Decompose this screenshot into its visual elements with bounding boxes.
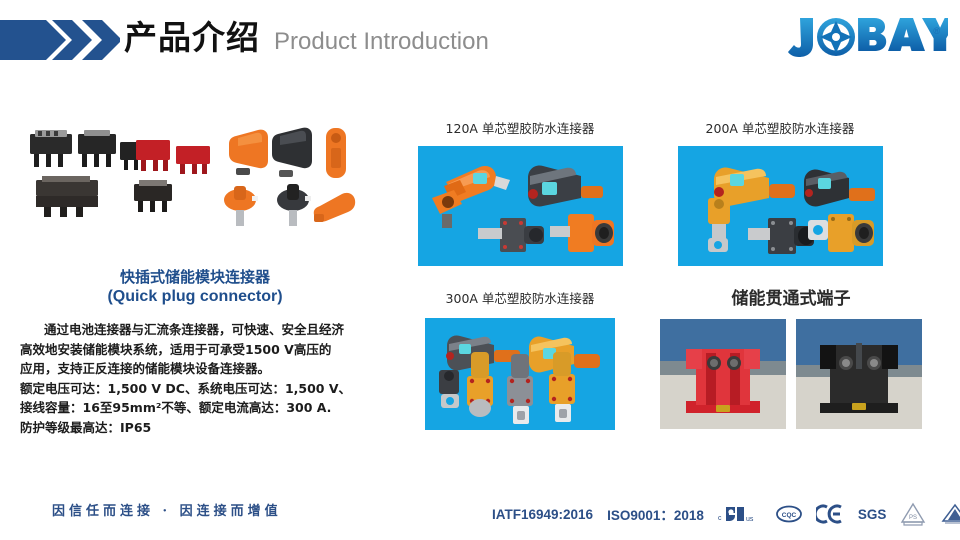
left-heading-cn: 快插式储能模块连接器 xyxy=(0,268,390,287)
svg-text:us: us xyxy=(746,516,754,523)
jobay-logo: ® xyxy=(788,12,948,62)
svg-text:PS: PS xyxy=(909,515,917,521)
cert-iso: ISO9001：2018 xyxy=(607,504,704,524)
product-panel-200a: 200A 单芯塑胶防水连接器 xyxy=(664,118,896,266)
panel-caption-120a: 120A 单芯塑胶防水连接器 xyxy=(404,118,636,137)
cert-iatf: IATF16949:2016 xyxy=(492,507,593,522)
page-title: 产品介绍 xyxy=(124,18,260,58)
panel-caption-200a: 200A 单芯塑胶防水连接器 xyxy=(664,118,896,137)
page-subtitle: Product Introduction xyxy=(274,25,489,59)
battery-connector-product-photo xyxy=(8,110,388,245)
chevron-arrow-banner-icon xyxy=(0,20,120,60)
through-type-terminal-photo xyxy=(660,319,922,429)
left-heading-en: (Quick plug connector) xyxy=(0,287,390,307)
svg-text:c: c xyxy=(718,515,722,522)
ul-listed-icon: c us xyxy=(718,504,762,524)
description-line: 应用，支持正反连接的储能模块设备连接器。 xyxy=(20,359,370,379)
page-footer: 因信任而连接 · 因连接而增值 IATF16949:2016 ISO9001：2… xyxy=(0,492,960,540)
page-header: 产品介绍 Product Introduction ® xyxy=(0,0,960,78)
panel-caption-terminal: 储能贯通式端子 xyxy=(660,284,922,309)
connector-photo-120a xyxy=(418,146,623,266)
connector-photo-300a xyxy=(425,318,615,430)
pse-icon: PS xyxy=(900,502,926,526)
svg-text:CQC: CQC xyxy=(782,512,797,519)
certification-list: IATF16949:2016 ISO9001：2018 c us CQC xyxy=(492,502,960,526)
description-line: 接线容量：16至95mm²不等、额定电流高达：300 A. xyxy=(20,398,370,418)
product-panel-terminal: 储能贯通式端子 xyxy=(660,284,922,429)
registered-trademark-icon: ® xyxy=(933,26,940,36)
panel-caption-300a: 300A 单芯塑胶防水连接器 xyxy=(404,288,636,307)
connector-photo-200a xyxy=(678,146,883,266)
description-line: 高效地安装储能模块系统，适用于可承受1500 V高压的 xyxy=(20,340,370,360)
left-description-text: 通过电池连接器与汇流条连接器，可快速、安全且经济 高效地安装储能模块系统，适用于… xyxy=(20,320,370,438)
sgs-icon: SGS xyxy=(858,507,887,522)
company-slogan: 因信任而连接 · 因连接而增值 xyxy=(52,500,282,519)
ce-icon xyxy=(816,504,844,524)
description-line: 通过电池连接器与汇流条连接器，可快速、安全且经济 xyxy=(20,320,370,340)
description-line: 额定电压可达：1,500 V DC、系统电压可达：1,500 V、 xyxy=(20,379,370,399)
left-product-heading: 快插式储能模块连接器 (Quick plug connector) xyxy=(0,268,390,307)
description-line: 防护等级最高达：IP65 xyxy=(20,418,370,438)
cqc-icon: CQC xyxy=(776,504,802,524)
product-panel-300a: 300A 单芯塑胶防水连接器 xyxy=(404,288,636,430)
triangle-cert-icon xyxy=(940,502,960,526)
product-panel-120a: 120A 单芯塑胶防水连接器 xyxy=(404,118,636,266)
